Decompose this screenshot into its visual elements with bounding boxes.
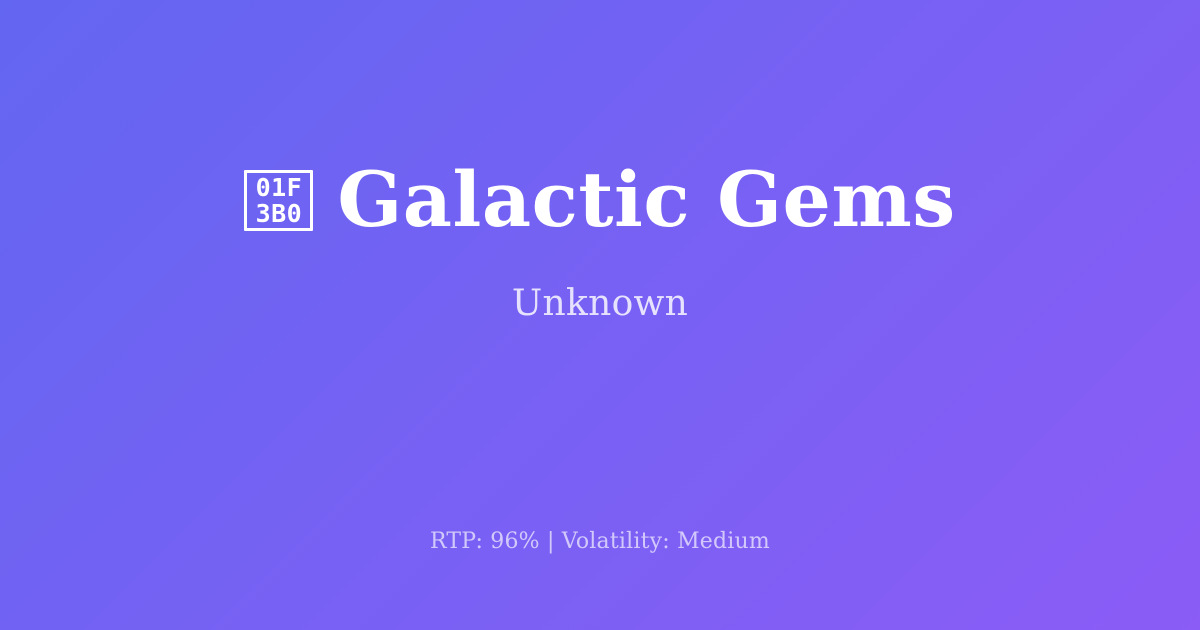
title-row: 01F 3B0 Galactic Gems <box>244 160 955 240</box>
game-title: Galactic Gems <box>337 160 955 240</box>
hero-block: 01F 3B0 Galactic Gems Unknown <box>0 0 1200 492</box>
game-provider: Unknown <box>512 284 688 324</box>
game-preview-card: 01F 3B0 Galactic Gems Unknown RTP: 96% |… <box>0 0 1200 630</box>
codepoint-bottom: 3B0 <box>256 201 303 227</box>
codepoint-top: 01F <box>256 175 303 201</box>
game-stats: RTP: 96% | Volatility: Medium <box>0 529 1200 555</box>
slot-machine-emoji-icon: 01F 3B0 <box>244 170 313 231</box>
